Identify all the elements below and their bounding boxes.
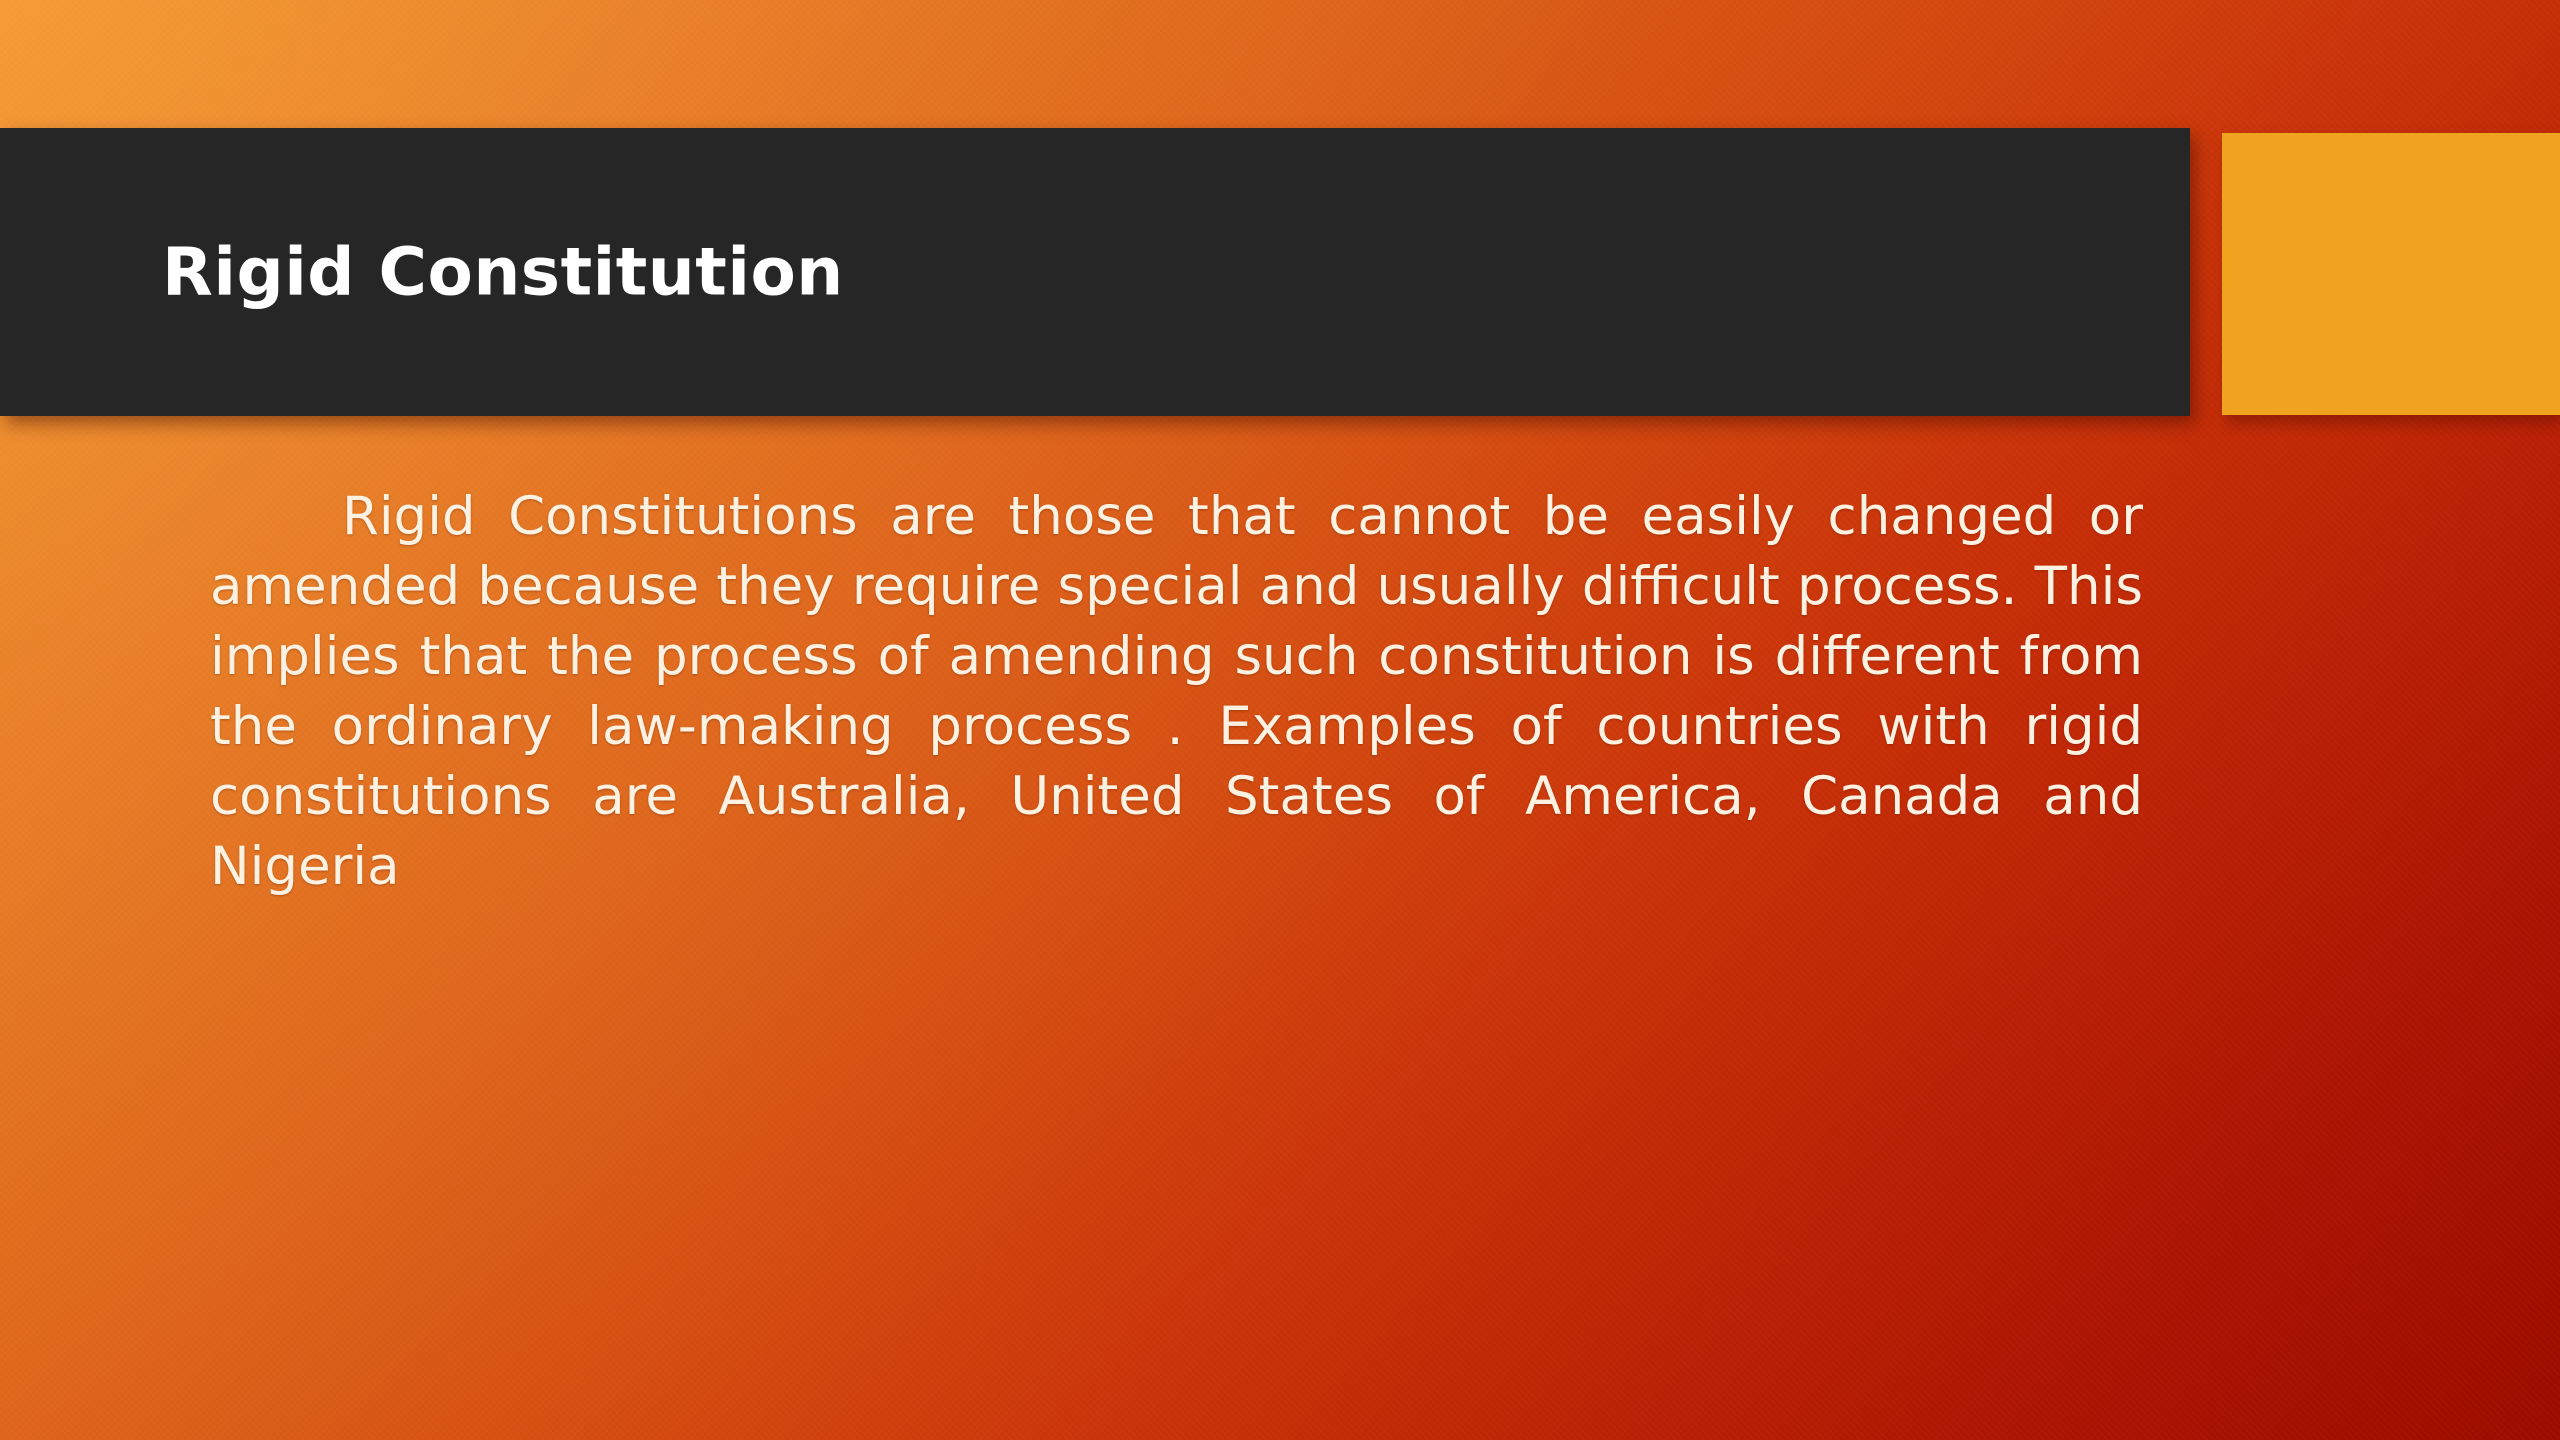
slide-body-text: Rigid Constitutions are those that canno…: [210, 482, 2143, 972]
slide-title: Rigid Constitution: [162, 237, 844, 306]
slide-title-bar: Rigid Constitution: [0, 128, 2190, 416]
presentation-slide: Rigid Constitution Rigid Constitutions a…: [0, 0, 2560, 1440]
accent-block: [2222, 133, 2560, 415]
